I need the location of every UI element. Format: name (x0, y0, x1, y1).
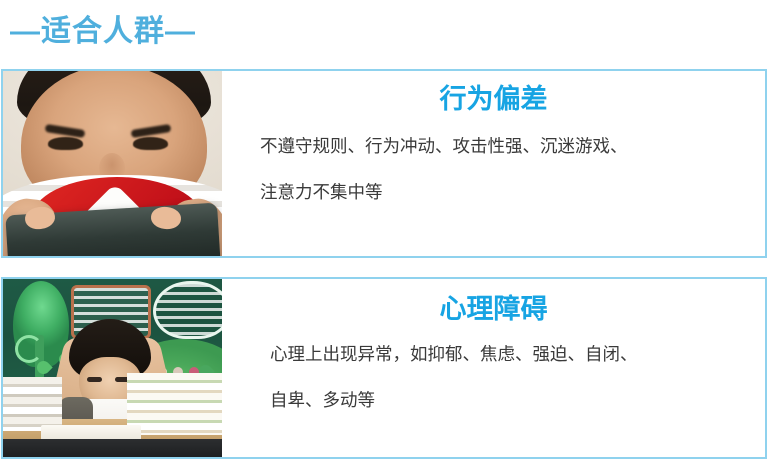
card-inner: 行为偏差 不遵守规则、行为冲动、攻击性强、沉迷游戏、 注意力不集中等 (3, 71, 765, 256)
card-text-column: 心理障碍 心理上出现异常，如抑郁、焦虑、强迫、自闭、 自卑、多动等 (222, 279, 765, 457)
audience-card-behavior-deviation: 行为偏差 不遵守规则、行为冲动、攻击性强、沉迷游戏、 注意力不集中等 (1, 69, 767, 258)
body-line: 自卑、多动等 (270, 392, 765, 410)
page-title: —适合人群— (10, 10, 510, 54)
photo-eye-right (133, 137, 168, 150)
photo-desk-edge (3, 439, 222, 457)
photo-chalk-speech-bubble (153, 281, 222, 339)
card-inner: 心理障碍 心理上出现异常，如抑郁、焦虑、强迫、自闭、 自卑、多动等 (3, 279, 765, 457)
stressed-student-at-desk-photo (3, 279, 222, 457)
boy-using-smartphone-photo (3, 71, 222, 256)
photo-chalk-swirl (15, 335, 43, 363)
body-line: 不遵守规则、行为冲动、攻击性强、沉迷游戏、 (260, 138, 765, 156)
body-line: 注意力不集中等 (260, 184, 765, 202)
card-title-psychological-disorder: 心理障碍 (222, 296, 765, 323)
body-line: 心理上出现异常，如抑郁、焦虑、强迫、自闭、 (270, 346, 765, 364)
card-body-psychological-disorder: 心理上出现异常，如抑郁、焦虑、强迫、自闭、 自卑、多动等 (222, 346, 765, 409)
suitable-audience-page: —适合人群— 行为偏差 (0, 0, 769, 462)
card-title-behavior-deviation: 行为偏差 (222, 86, 765, 113)
photo-eye-left (48, 137, 83, 150)
card-text-column: 行为偏差 不遵守规则、行为冲动、攻击性强、沉迷游戏、 注意力不集中等 (222, 71, 765, 256)
card-body-behavior-deviation: 不遵守规则、行为冲动、攻击性强、沉迷游戏、 注意力不集中等 (222, 138, 765, 201)
audience-card-psychological-disorder: 心理障碍 心理上出现异常，如抑郁、焦虑、强迫、自闭、 自卑、多动等 (1, 277, 767, 459)
photo-book-stack-right (127, 373, 222, 435)
photo-book-stack-left (3, 377, 62, 431)
photo-student-eye-left (87, 377, 102, 382)
